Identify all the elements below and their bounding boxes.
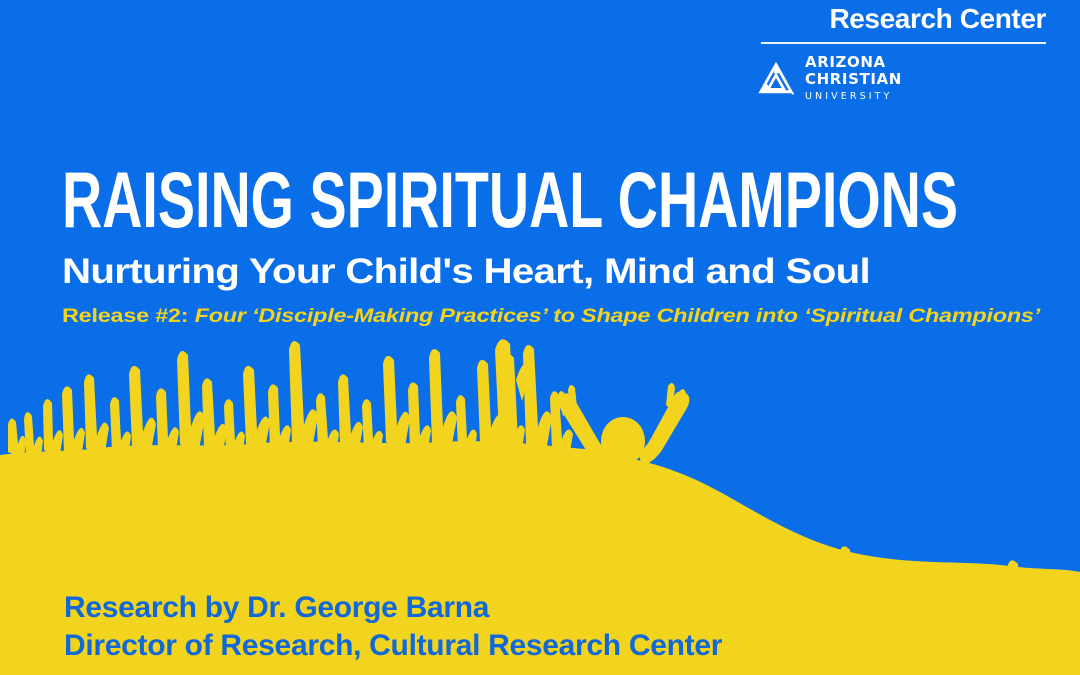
report-subtitle: Nurturing Your Child's Heart, Mind and S… — [62, 252, 870, 292]
acu-logo: ARIZONA CHRISTIAN UNIVERSITY — [754, 55, 1046, 103]
report-title: RAISING SPIRITUAL CHAMPIONS — [62, 160, 958, 239]
penrose-triangle-icon — [756, 59, 796, 99]
credit-block: Research by Dr. George Barna Director of… — [64, 589, 904, 665]
header-divider — [761, 42, 1046, 44]
poster-canvas: Research Center ARIZONA CHRISTIAN UNIVER… — [0, 0, 1080, 675]
release-label: Release #2: — [62, 305, 188, 327]
acu-name-line2: CHRISTIAN — [805, 72, 902, 87]
brand-header: Research Center ARIZONA CHRISTIAN UNIVER… — [754, 2, 1046, 103]
release-line: Release #2: Four ‘Disciple-Making Practi… — [62, 304, 1040, 329]
credit-role: Director of Research, Cultural Research … — [64, 627, 904, 665]
acu-name-line1: ARIZONA — [805, 55, 902, 70]
headline-block: RAISING SPIRITUAL CHAMPIONS Nurturing Yo… — [62, 160, 1022, 329]
credit-author: Research by Dr. George Barna — [64, 589, 904, 627]
acu-wordmark: ARIZONA CHRISTIAN UNIVERSITY — [805, 55, 902, 103]
release-description: Four ‘Disciple-Making Practices’ to Shap… — [195, 305, 1040, 327]
research-center-title: Research Center — [754, 2, 1046, 36]
acu-name-line3: UNIVERSITY — [805, 91, 902, 103]
